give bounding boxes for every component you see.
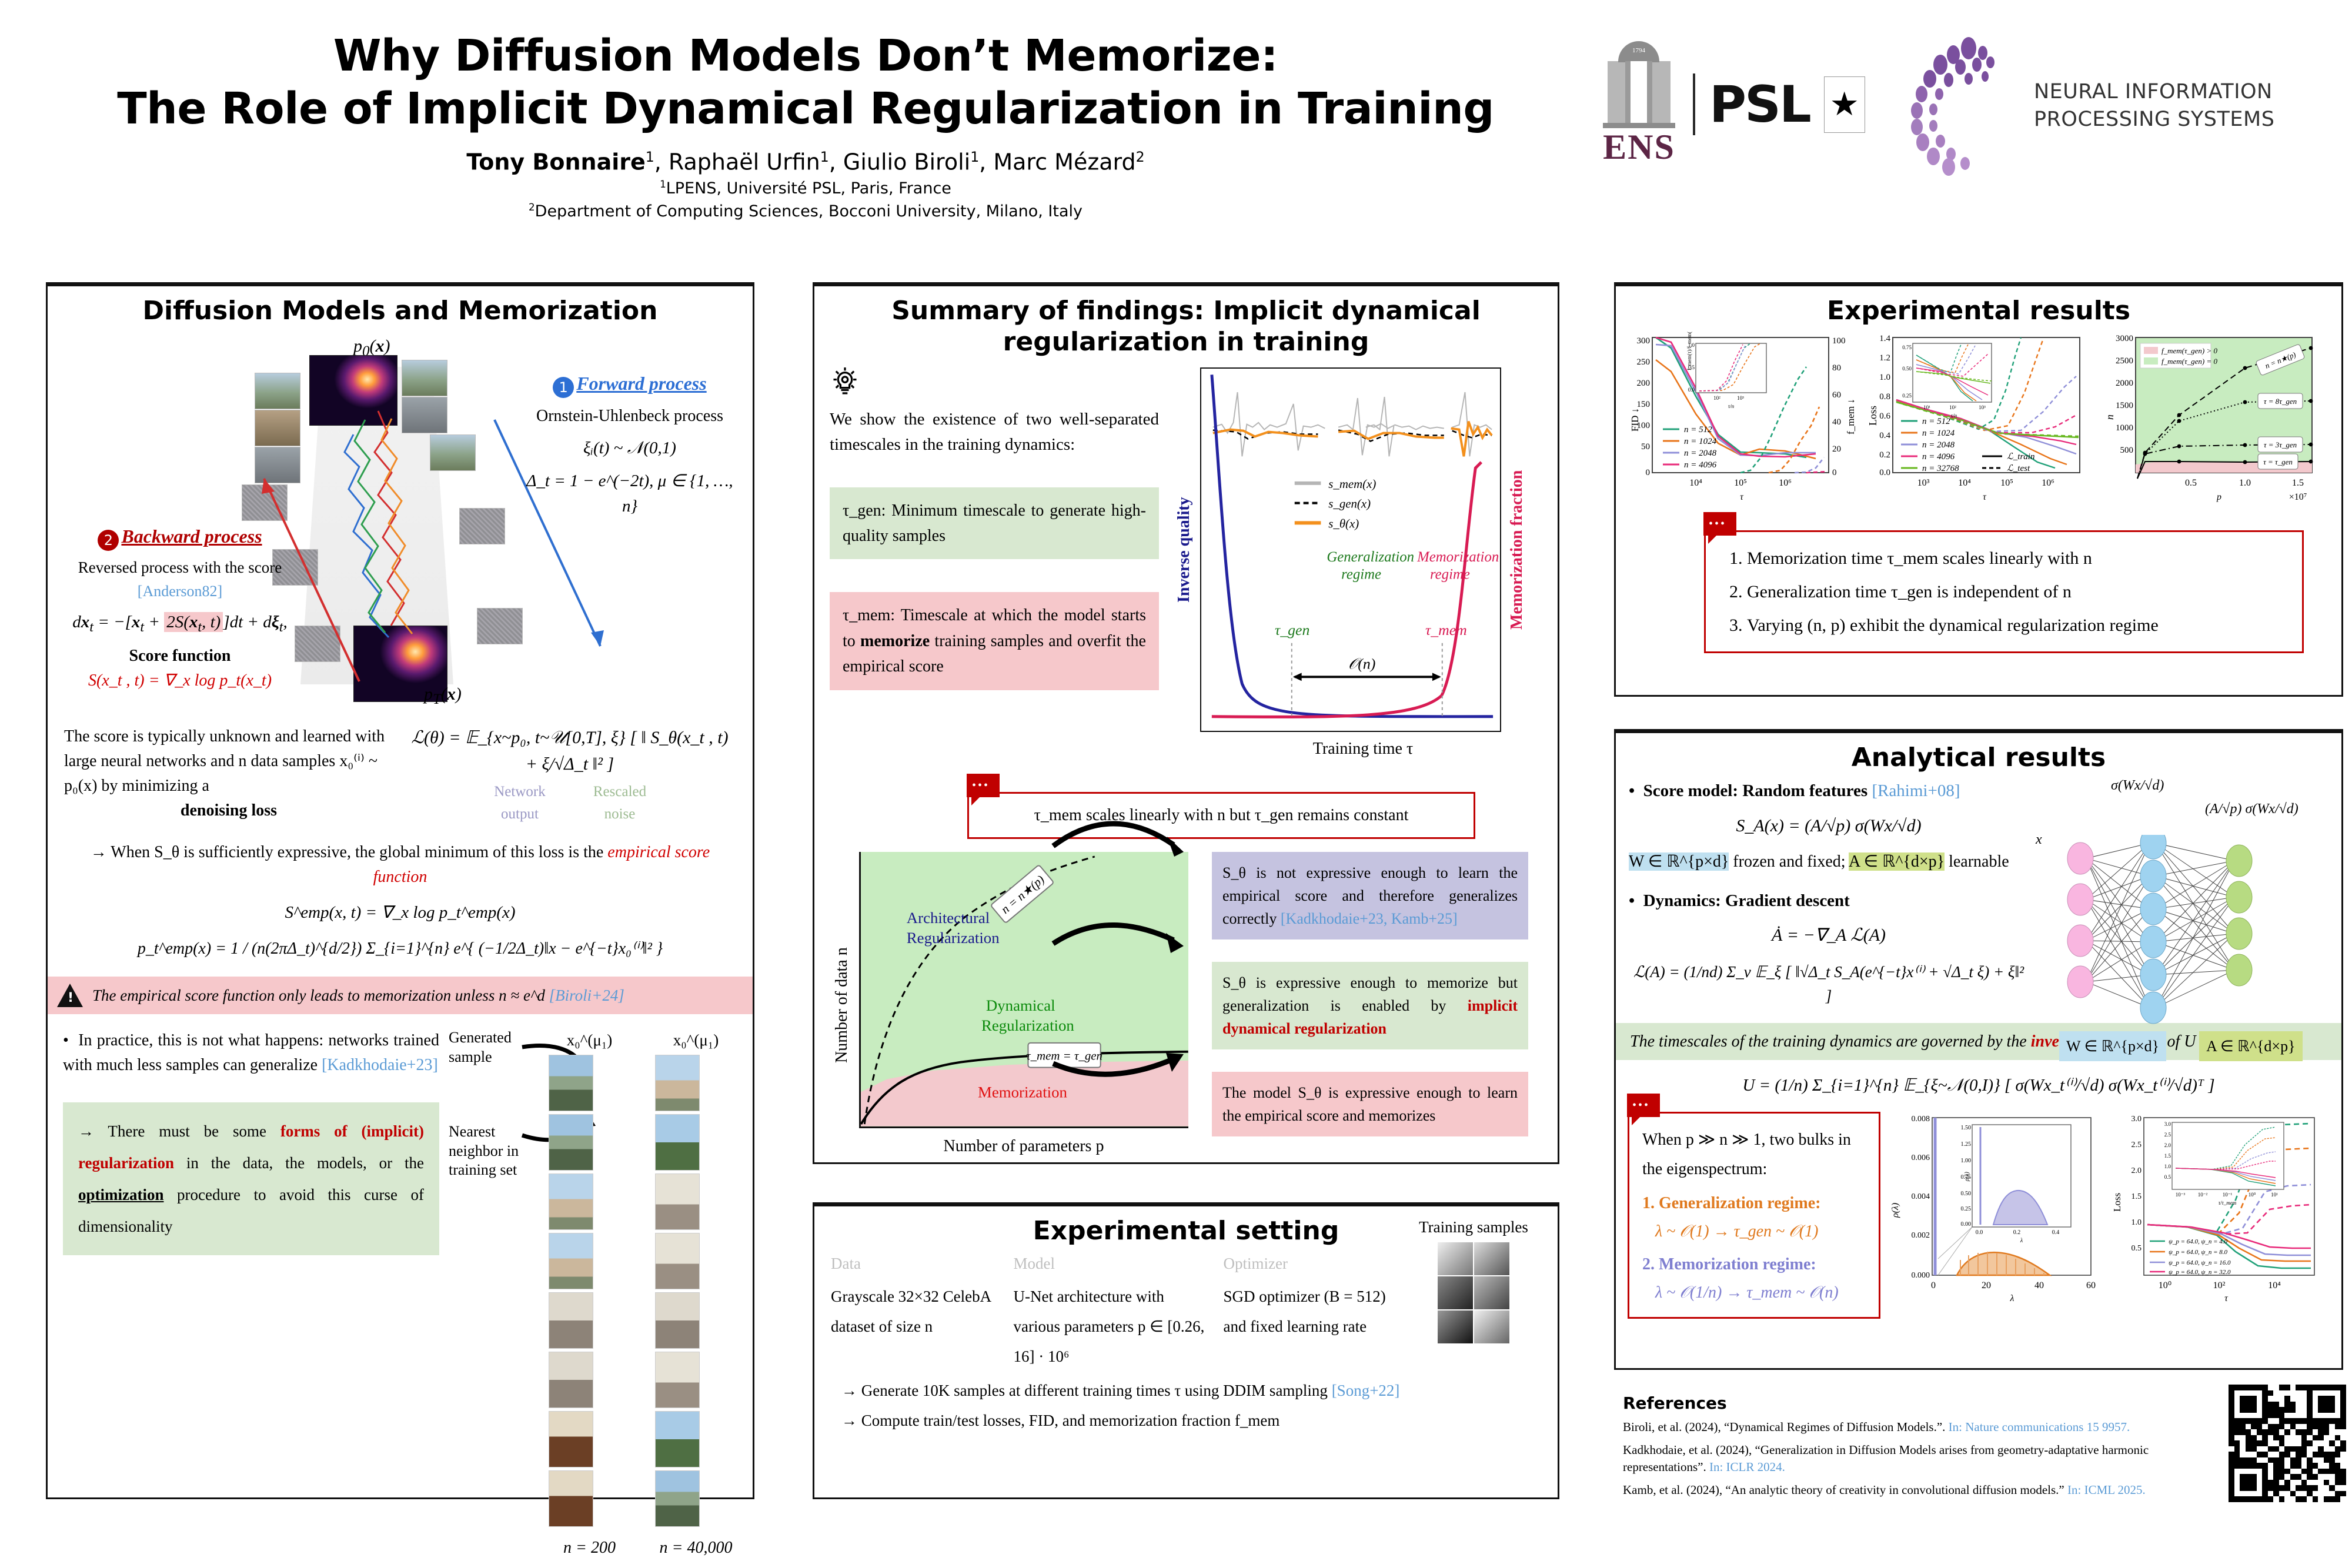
panel1-title: Diffusion Models and Memorization xyxy=(48,296,753,326)
score-model-bullet: • Score model: Random features [Rahimi+0… xyxy=(1629,778,2029,804)
svg-text:10¹: 10¹ xyxy=(1923,404,1930,410)
svg-text:1.0: 1.0 xyxy=(2131,1218,2142,1227)
svg-text:1000: 1000 xyxy=(2116,423,2133,433)
noisy-thumbnail xyxy=(242,484,288,521)
svg-text:3.0: 3.0 xyxy=(2131,1115,2142,1124)
timescale-chart-block: Inverse quality xyxy=(1172,367,1531,761)
backward-heading: 2 Backward process xyxy=(54,526,306,551)
references-block: References Biroli, et al. (2024), “Dynam… xyxy=(1623,1393,2211,1505)
svg-text:Memorization: Memorization xyxy=(978,1083,1067,1101)
svg-text:10⁻³: 10⁻³ xyxy=(2176,1192,2186,1198)
svg-text:0.0: 0.0 xyxy=(1688,387,1695,393)
affiliation-1: 1LPENS, Université PSL, Paris, France xyxy=(47,178,1564,198)
svg-text:0.5: 0.5 xyxy=(2131,1244,2142,1253)
sample-image xyxy=(655,1292,700,1349)
sample-image xyxy=(549,1292,593,1349)
qr-code-pattern xyxy=(2229,1385,2346,1502)
svg-text:0.5: 0.5 xyxy=(2164,1174,2171,1180)
loss-equation: ℒ(θ) = 𝔼_{x~p₀, t~𝒰[0,T], ξ} [ ‖ S_θ(x_t… xyxy=(405,724,734,777)
svg-text:τ: τ xyxy=(1983,492,1987,502)
svg-text:0.0: 0.0 xyxy=(1976,1229,1983,1236)
svg-text:1.0: 1.0 xyxy=(1688,342,1695,348)
svg-text:1500: 1500 xyxy=(2116,401,2133,410)
callout-equation-memorization: λ ~ 𝒪(1/n) → τ_mem ~ 𝒪(n) xyxy=(1642,1281,1866,1305)
svg-text:n = 4096: n = 4096 xyxy=(1684,460,1717,470)
phase-ylabel: Number of data n xyxy=(830,852,854,1159)
training-samples-grid xyxy=(1406,1242,1541,1343)
practice-left: • In practice, this is not what happens:… xyxy=(63,1028,439,1255)
svg-text:2.0: 2.0 xyxy=(2131,1166,2142,1175)
svg-text:1.5: 1.5 xyxy=(2131,1192,2142,1201)
svg-text:τ_gen: τ_gen xyxy=(1275,621,1309,638)
empirical-score-statement: → When S_θ is sufficiently expressive, t… xyxy=(48,840,753,890)
svg-text:λ: λ xyxy=(2020,1238,2023,1244)
svg-text:0.6: 0.6 xyxy=(1879,412,1890,421)
face-thumbnail xyxy=(1474,1276,1509,1309)
svg-text:τ: τ xyxy=(1740,492,1744,502)
backward-equation: dxt = −[xt + 2S(xt, t)]dt + dξt, xyxy=(54,610,306,638)
svg-text:n = 512: n = 512 xyxy=(1684,425,1712,434)
neurips-wordmark: NEURAL INFORMATION PROCESSING SYSTEMS xyxy=(2034,78,2274,134)
sample-grid xyxy=(549,1055,737,1530)
lightbulb-icon xyxy=(830,367,860,398)
neurips-line-2: PROCESSING SYSTEMS xyxy=(2034,106,2274,133)
svg-text:0.2: 0.2 xyxy=(1879,450,1890,460)
svg-text:60: 60 xyxy=(2086,1281,2096,1290)
summary-row: We show the existence of two well-separa… xyxy=(814,364,1558,761)
warning-banner: The empirical score function only leads … xyxy=(48,977,753,1015)
callout-dots-icon: ••• xyxy=(972,783,990,788)
svg-text:500: 500 xyxy=(2120,446,2134,455)
svg-text:150: 150 xyxy=(1637,400,1651,409)
svg-text:n = 1024: n = 1024 xyxy=(1922,429,1955,438)
svg-text:ℒ_test: ℒ_test xyxy=(2007,464,2030,473)
thumbnail-image xyxy=(402,360,447,396)
svg-text:10²: 10² xyxy=(2213,1281,2226,1290)
setting-head-optimizer: Optimizer xyxy=(1224,1252,1406,1276)
svg-text:ψ_p = 64.0, ψ_n = 32.0: ψ_p = 64.0, ψ_n = 32.0 xyxy=(2169,1269,2231,1276)
warning-triangle-icon xyxy=(57,984,83,1007)
backward-process-block: 2 Backward process Reversed process with… xyxy=(54,526,306,693)
svg-text:10⁰: 10⁰ xyxy=(2249,1192,2256,1198)
svg-text:200: 200 xyxy=(1637,379,1651,388)
nn-a-box: A ∈ ℝ^{d×p} xyxy=(2199,1031,2302,1061)
callout-badge-icon: ••• xyxy=(967,774,1000,797)
svg-text:0.2: 0.2 xyxy=(2013,1229,2021,1236)
svg-text:10⁻²: 10⁻² xyxy=(2198,1192,2208,1198)
svg-text:0.006: 0.006 xyxy=(1912,1154,1930,1162)
thumbnail-image xyxy=(255,410,300,446)
rahimi-citation: [Rahimi+08] xyxy=(1872,781,1960,800)
nn-w-box: W ∈ ℝ^{p×d} xyxy=(2059,1031,2166,1061)
panel-experimental-setting: Experimental setting Data Grayscale 32×3… xyxy=(813,1202,1559,1499)
timescale-chart: s_mem(x) s_gen(x) s_θ(x) Generalization xyxy=(1200,367,1501,732)
svg-text:×10⁷: ×10⁷ xyxy=(2289,492,2307,502)
phase-messages: S_θ is not expressive enough to learn th… xyxy=(1199,852,1528,1159)
svg-text:Architectural: Architectural xyxy=(907,909,990,927)
svg-text:Generalization: Generalization xyxy=(1327,549,1414,564)
chart-nstar-vs-p: n 300025002000 15001000500 0.51.01.5 p×1… xyxy=(2104,332,2327,508)
empirical-score-equation-2: p_t^emp(x) = 1 / (n(2πΔ_t)^{d/2}) Σ_{i=1… xyxy=(48,937,753,961)
empirical-score-equation-1: S^emp(x, t) = ∇_x log p_t^emp(x) xyxy=(48,900,753,926)
page-title: Why Diffusion Models Don’t Memorize: The… xyxy=(47,29,1564,136)
sample-image xyxy=(549,1114,593,1171)
svg-text:n = 4096: n = 4096 xyxy=(1922,452,1955,462)
neurips-line-1: NEURAL INFORMATION xyxy=(2034,78,2274,106)
svg-text:n = 32768: n = 32768 xyxy=(1922,464,1959,473)
qr-code[interactable] xyxy=(2229,1385,2346,1502)
sample-column-right xyxy=(655,1055,737,1530)
timescale-chart-svg: s_mem(x) s_gen(x) s_θ(x) Generalization xyxy=(1201,369,1500,731)
timescale-chart-row: Inverse quality xyxy=(1172,367,1531,732)
analytic-row: • Score model: Random features [Rahimi+0… xyxy=(1616,778,2341,1008)
panel2-title-line1: Summary of findings: Implicit dynamical xyxy=(814,296,1558,327)
svg-text:0.25: 0.25 xyxy=(1902,393,1912,399)
panel4-title: Experimental results xyxy=(1616,296,2341,326)
ens-logo: 1794 ENS xyxy=(1599,41,1679,168)
phase-xlabel: Number of parameters p xyxy=(859,1134,1188,1159)
tau-gen-box: τ_gen: Minimum timescale to generate hig… xyxy=(830,487,1159,560)
svg-text:10³: 10³ xyxy=(1979,404,1986,410)
setting-col-model: Model U-Net architecture with various pa… xyxy=(1013,1252,1223,1372)
svg-text:τ/n: τ/n xyxy=(1728,403,1735,409)
chart-eigenspectrum: ρ(λ) 0.0080.0060.004 0.0020.000 0204060 … xyxy=(1890,1112,2102,1306)
title-line-2: The Role of Implicit Dynamical Regulariz… xyxy=(47,82,1564,135)
svg-text:n = 512: n = 512 xyxy=(1922,417,1950,426)
svg-text:100: 100 xyxy=(1637,421,1651,430)
sample-column-heads: x₀^(μ₁) x₀^(μ₁) xyxy=(549,1028,737,1052)
denoising-loss-row: The score is typically unknown and learn… xyxy=(48,724,753,825)
thumbnail-image xyxy=(255,447,300,483)
svg-text:40: 40 xyxy=(2034,1281,2044,1290)
nn-output-label: (A/√p) σ(Wx/√d) xyxy=(2205,798,2298,820)
svg-text:f_mem(τ_gen) = 0: f_mem(τ_gen) = 0 xyxy=(2161,357,2218,366)
ens-building-icon: 1794 xyxy=(1599,41,1679,129)
psl-wordmark: PSL xyxy=(1709,79,1810,130)
nn-legend: W ∈ ℝ^{p×d} A ∈ ℝ^{d×p} xyxy=(2059,1031,2303,1061)
psl-star-icon: ★ xyxy=(1824,76,1865,133)
svg-text:Regularization: Regularization xyxy=(907,929,1000,947)
noisy-thumbnail xyxy=(477,608,523,644)
density-heatmap-p0 xyxy=(309,355,397,426)
thumbnail-image xyxy=(255,373,300,409)
sample-image xyxy=(655,1174,700,1230)
panel-experimental-results: Experimental results FID ↓ f_mem ↓ 30025… xyxy=(1614,282,2343,697)
callout-item-memorization: 2. Memorization regime: xyxy=(1642,1252,1866,1277)
panel2-title-line2: regularization in training xyxy=(814,327,1558,358)
callout-dots-icon: ••• xyxy=(1709,521,1726,526)
message-citation: [Kadkhodaie+23, Kamb+25] xyxy=(1281,910,1458,927)
svg-text:ψ_p = 64.0, ψ_n = 4.0: ψ_p = 64.0, ψ_n = 4.0 xyxy=(2169,1238,2228,1245)
callout-badge-icon: ••• xyxy=(1703,512,1736,536)
warning-citation: [Biroli+24] xyxy=(549,987,624,1004)
svg-text:Loss: Loss xyxy=(2112,1193,2123,1212)
phase-diagram: n = n★(p) τ_mem = τ_gen Architectural Re… xyxy=(859,852,1188,1128)
reference-item: Kamb, et al. (2024), “An analytic theory… xyxy=(1623,1482,2211,1498)
setting-body-optimizer: SGD optimizer (B = 512) and fixed learni… xyxy=(1224,1282,1406,1342)
ens-wordmark: ENS xyxy=(1599,127,1679,168)
findings-list: Memorization time τ_mem scales linearly … xyxy=(1719,541,2289,642)
phase-row: Number of data n n = n★(p) xyxy=(814,839,1558,1159)
panel-summary-findings: Summary of findings: Implicit dynamical … xyxy=(813,282,1559,1164)
tau-mem-box: τ_mem: Timescale at which the model star… xyxy=(830,592,1159,690)
svg-text:1.00: 1.00 xyxy=(1961,1158,1972,1164)
summary-left: We show the existence of two well-separa… xyxy=(830,367,1159,761)
svg-text:50: 50 xyxy=(1641,442,1650,452)
svg-text:0.008: 0.008 xyxy=(1912,1115,1930,1124)
setting-col-data: Data Grayscale 32×32 CelebA dataset of s… xyxy=(831,1252,1013,1372)
svg-text:100: 100 xyxy=(1832,336,1846,346)
svg-text:10⁵: 10⁵ xyxy=(1734,478,1747,488)
svg-text:τ = 3τ_gen: τ = 3τ_gen xyxy=(2264,440,2297,449)
svg-text:f_mem ↓: f_mem ↓ xyxy=(1845,399,1856,434)
setting-bullet-1: → Generate 10K samples at different trai… xyxy=(814,1372,1558,1403)
a-tag: A ∈ ℝ^{d×p} xyxy=(1849,852,1945,871)
sample-image xyxy=(655,1411,700,1467)
poster-root: Why Diffusion Models Don’t Memorize: The… xyxy=(0,0,2352,1568)
svg-text:10⁶: 10⁶ xyxy=(1779,478,1792,488)
face-thumbnail xyxy=(1438,1276,1473,1309)
svg-text:3.0: 3.0 xyxy=(2164,1121,2171,1127)
forward-heading: 1 Forward process xyxy=(518,373,741,398)
pT-label: pT(x) xyxy=(424,684,462,708)
practice-citation: [Kadkhodaie+23] xyxy=(322,1056,438,1074)
n-label-right: n = 40,000 xyxy=(655,1536,737,1560)
setting-col-optimizer: Optimizer SGD optimizer (B = 512) and fi… xyxy=(1224,1252,1406,1372)
svg-text:10⁵: 10⁵ xyxy=(2000,478,2013,488)
phase-diagram-block: Number of data n n = n★(p) xyxy=(830,852,1188,1159)
svg-text:n: n xyxy=(2104,414,2116,420)
svg-text:0.002: 0.002 xyxy=(1912,1231,1930,1240)
svg-text:0.0: 0.0 xyxy=(1879,468,1890,477)
svg-text:1.50: 1.50 xyxy=(1961,1125,1972,1131)
callout-findings: ••• Memorization time τ_mem scales linea… xyxy=(1704,530,2304,653)
U-equation: U = (1/n) Σ_{i=1}^{n} 𝔼_{ξ~𝒩(0,I)} [ σ(W… xyxy=(1616,1073,2341,1099)
col-head-left: x₀^(μ₁) xyxy=(549,1028,630,1052)
sample-image xyxy=(549,1233,593,1289)
gradient-descent-equation: Ȧ = −∇_A ℒ(A) xyxy=(1629,922,2029,948)
sample-image xyxy=(655,1352,700,1408)
sample-image xyxy=(549,1352,593,1408)
practice-bullet: • In practice, this is not what happens:… xyxy=(63,1028,439,1078)
svg-text:s_gen(x): s_gen(x) xyxy=(1328,496,1371,510)
loss-equation-block: ℒ(θ) = 𝔼_{x~p₀, t~𝒰[0,T], ξ} [ ‖ S_θ(x_t… xyxy=(405,724,734,825)
svg-text:τ: τ xyxy=(2224,1293,2229,1303)
backward-step-badge: 2 xyxy=(98,530,119,551)
affiliation-2: 2Department of Computing Sciences, Bocco… xyxy=(47,201,1564,220)
svg-text:0.004: 0.004 xyxy=(1912,1192,1930,1201)
svg-text:10⁴: 10⁴ xyxy=(2268,1281,2281,1290)
score-function-label: Score function xyxy=(54,644,306,668)
setting-head-data: Data xyxy=(831,1252,1013,1276)
neurips-swirl-icon xyxy=(1899,35,2026,176)
svg-text:0.4: 0.4 xyxy=(1879,431,1890,440)
svg-text:τ/τ_mem: τ/τ_mem xyxy=(2219,1200,2237,1206)
svg-text:τ_mem: τ_mem xyxy=(1425,621,1467,638)
score-function-equation: S(x_t , t) = ∇_x log p_t(x_t) xyxy=(54,668,306,693)
chart-ylabel-left: Inverse quality xyxy=(1172,367,1197,732)
logo-divider xyxy=(1693,73,1695,135)
svg-text:250: 250 xyxy=(1637,357,1651,367)
svg-text:n = 2048: n = 2048 xyxy=(1684,449,1717,458)
callout-badge-icon: ••• xyxy=(1627,1094,1660,1117)
svg-text:0.50: 0.50 xyxy=(1902,366,1912,372)
callout-head: When p ≫ n ≫ 1, two bulks in the eigensp… xyxy=(1642,1125,1866,1185)
svg-text:0.75: 0.75 xyxy=(1961,1174,1972,1181)
svg-text:0.8: 0.8 xyxy=(1879,392,1890,402)
svg-text:2000: 2000 xyxy=(2116,379,2133,388)
logo-row: 1794 ENS PSL ★ xyxy=(1582,35,2340,188)
callout-eigenspectrum: ••• When p ≫ n ≫ 1, two bulks in the eig… xyxy=(1628,1112,1880,1319)
svg-text:0.50: 0.50 xyxy=(1961,1191,1972,1197)
chart-analytic-loss-inset: 3.02.52.0 1.51.00.5 10⁻³10⁻²10⁻¹ 10⁰10¹ … xyxy=(2164,1121,2284,1206)
w-tag: W ∈ ℝ^{p×d} xyxy=(1629,852,1729,871)
svg-text:τ = 8τ_gen: τ = 8τ_gen xyxy=(2264,397,2297,406)
title-line-1: Why Diffusion Models Don’t Memorize: xyxy=(47,29,1564,82)
svg-text:2.5: 2.5 xyxy=(2131,1141,2142,1149)
analytic-bottom-row: ••• When p ≫ n ≫ 1, two bulks in the eig… xyxy=(1616,1099,2341,1319)
svg-text:10⁻¹: 10⁻¹ xyxy=(2223,1192,2233,1198)
svg-text:10²: 10² xyxy=(1949,404,1956,410)
face-thumbnail xyxy=(1438,1310,1473,1343)
svg-text:0: 0 xyxy=(1646,468,1651,477)
svg-text:𝒪(n): 𝒪(n) xyxy=(1348,655,1375,672)
svg-text:0.5: 0.5 xyxy=(2185,478,2197,488)
ens-psl-logo: 1794 ENS PSL ★ xyxy=(1599,41,1865,168)
svg-text:10³: 10³ xyxy=(1917,478,1930,488)
svg-text:2.5: 2.5 xyxy=(2164,1132,2171,1138)
ens-year-label: 1794 xyxy=(1618,47,1659,54)
backward-subtitle: Reversed process with the score xyxy=(54,556,306,580)
svg-text:1.25: 1.25 xyxy=(1961,1141,1972,1148)
references-heading: References xyxy=(1623,1393,2211,1413)
w-a-line: W ∈ ℝ^{p×d} frozen and fixed; A ∈ ℝ^{d×p… xyxy=(1629,850,2029,874)
setting-body-model: U-Net architecture with various paramete… xyxy=(1013,1282,1223,1372)
svg-text:0.5: 0.5 xyxy=(1688,365,1695,370)
finding-item: Memorization time τ_mem scales linearly … xyxy=(1747,541,2289,575)
setting-body-data: Grayscale 32×32 CelebA dataset of size n xyxy=(831,1282,1013,1342)
loss-A-equation: ℒ(A) = (1/nd) Σ_ν 𝔼_ξ [ ‖√Δ_t S_A(e^{−t}… xyxy=(1629,960,2029,1008)
svg-text:f_mem(τ_gen) > 0: f_mem(τ_gen) > 0 xyxy=(2161,346,2218,355)
warning-text: The empirical score function only leads … xyxy=(92,984,624,1008)
ddim-citation: [Song+22] xyxy=(1332,1382,1400,1399)
svg-text:10¹: 10¹ xyxy=(2271,1192,2278,1198)
forward-equation-1: ξᵢ(t) ~ 𝒩(0,1) xyxy=(518,436,741,462)
svg-text:λ: λ xyxy=(2010,1293,2014,1303)
sample-image xyxy=(655,1470,700,1527)
diffusion-schematic: p0(x) xyxy=(48,332,753,720)
callout-dots-icon: ••• xyxy=(1632,1103,1650,1108)
setting-head-model: Model xyxy=(1013,1252,1223,1276)
sample-columns: x₀^(μ₁) x₀^(μ₁) xyxy=(549,1028,737,1560)
callout-equation-generalization: λ ~ 𝒪(1) → τ_gen ~ 𝒪(1) xyxy=(1642,1219,1866,1244)
panel2-title: Summary of findings: Implicit dynamical … xyxy=(814,296,1558,358)
svg-text:10⁰: 10⁰ xyxy=(2159,1281,2171,1290)
svg-text:1.4: 1.4 xyxy=(1879,334,1890,343)
svg-text:10⁴: 10⁴ xyxy=(1958,478,1971,488)
face-thumbnail xyxy=(1474,1310,1509,1343)
backward-title: Backward process xyxy=(121,526,262,547)
sample-grid-block: Generated sample Nearest neighbor in tra… xyxy=(449,1028,737,1255)
finding-item: Generalization time τ_gen is independent… xyxy=(1747,575,2289,609)
svg-text:τ_mem = τ_gen: τ_mem = τ_gen xyxy=(1026,1048,1102,1062)
svg-text:1.2: 1.2 xyxy=(1879,353,1890,363)
backward-citation: [Anderson82] xyxy=(54,580,306,603)
training-samples-block: Training samples xyxy=(1406,1252,1541,1372)
callout-scaling-text: τ_mem scales linearly with n but τ_gen r… xyxy=(982,803,1461,828)
svg-text:300: 300 xyxy=(1637,336,1651,346)
svg-text:1.0: 1.0 xyxy=(1879,373,1890,382)
panel-analytical-results: Analytical results • Score model: Random… xyxy=(1614,729,2343,1370)
svg-text:ψ_p = 64.0, ψ_n = 8.0: ψ_p = 64.0, ψ_n = 8.0 xyxy=(2169,1249,2228,1256)
reference-item: Biroli, et al. (2024), “Dynamical Regime… xyxy=(1623,1419,2211,1435)
svg-text:Regularization: Regularization xyxy=(981,1017,1074,1034)
svg-text:n = 2048: n = 2048 xyxy=(1922,440,1955,450)
svg-text:regime: regime xyxy=(1341,566,1381,582)
phase-message-arrows xyxy=(1153,828,1294,1105)
svg-text:p: p xyxy=(2216,492,2221,502)
svg-text:0: 0 xyxy=(1832,468,1837,477)
chart-analytic-loss: Loss 3.02.52.0 1.51.00.5 10⁰10²10⁴ τ xyxy=(2111,1112,2323,1306)
nn-hidden-label: σ(Wx/√d) xyxy=(2111,775,2164,796)
panel5-title: Analytical results xyxy=(1616,743,2341,773)
setting-bullet-2: → Compute train/test losses, FID, and me… xyxy=(814,1403,1558,1433)
svg-text:ψ_p = 64.0, ψ_n = 16.0: ψ_p = 64.0, ψ_n = 16.0 xyxy=(2169,1259,2231,1266)
chart-ylabel-right: Memorization fraction xyxy=(1505,367,1529,732)
reference-item: Kadkhodaie, et al. (2024), “Generalizati… xyxy=(1623,1442,2211,1475)
sample-image xyxy=(549,1470,593,1527)
svg-text:2.0: 2.0 xyxy=(2164,1142,2171,1148)
sample-image xyxy=(655,1055,700,1111)
svg-text:20: 20 xyxy=(1982,1281,1991,1290)
loss-captions: Network output Rescaled noise xyxy=(405,781,734,825)
summary-intro: We show the existence of two well-separa… xyxy=(830,407,1159,458)
col-head-right: x₀^(μ₁) xyxy=(655,1028,737,1052)
implicit-regularization-box: → There must be some forms of (implicit)… xyxy=(63,1102,439,1255)
author-list: Tony Bonnaire1, Raphaël Urfin1, Giulio B… xyxy=(47,149,1564,175)
callout-item-generalization: 1. Generalization regime: xyxy=(1642,1191,1866,1216)
svg-text:40: 40 xyxy=(1832,417,1841,427)
chart-eigenspectrum-inset: ρ(λ) 1.501.251.00 0.750.500.250.00 0.00.… xyxy=(1961,1125,2072,1244)
thumbnail-image xyxy=(402,397,447,433)
svg-text:1.5: 1.5 xyxy=(2164,1153,2171,1159)
random-features-network: σ(Wx/√d) (A/√p) σ(Wx/√d) x xyxy=(2029,778,2323,1008)
svg-text:1.0: 1.0 xyxy=(2239,478,2251,488)
svg-text:s_mem(x): s_mem(x) xyxy=(1328,476,1376,490)
forward-equation-2: Δ_t = 1 − e^(−2t), μ ∈ {1, …, n} xyxy=(518,469,741,520)
face-thumbnail xyxy=(1474,1242,1509,1275)
sample-image xyxy=(549,1055,593,1111)
denoising-loss-label: denoising loss xyxy=(64,798,393,823)
svg-text:Memorization: Memorization xyxy=(1416,549,1499,564)
sample-image xyxy=(655,1233,700,1289)
sample-image xyxy=(549,1411,593,1467)
setting-row: Data Grayscale 32×32 CelebA dataset of s… xyxy=(814,1252,1558,1372)
sample-grid-captions: n = 200 n = 40,000 xyxy=(549,1536,737,1560)
svg-text:Dynamical: Dynamical xyxy=(986,997,1055,1014)
phase-curves: n = n★(p) τ_mem = τ_gen Architectural Re… xyxy=(861,852,1188,1126)
chart-fid-fmem: FID ↓ f_mem ↓ 300250200 150100500 100806… xyxy=(1630,332,1862,508)
finding-item: Varying (n, p) exhibit the dynamical reg… xyxy=(1747,609,2289,642)
network-output-caption: Network output xyxy=(482,781,558,825)
nn-graph xyxy=(2040,835,2311,1029)
svg-text:2500: 2500 xyxy=(2116,356,2133,366)
svg-text:10²: 10² xyxy=(1713,395,1720,401)
svg-text:0.4: 0.4 xyxy=(2052,1229,2060,1236)
sample-image xyxy=(549,1174,593,1230)
svg-text:0.25: 0.25 xyxy=(1961,1206,1972,1212)
svg-text:ρ(λ): ρ(λ) xyxy=(1890,1202,1900,1218)
